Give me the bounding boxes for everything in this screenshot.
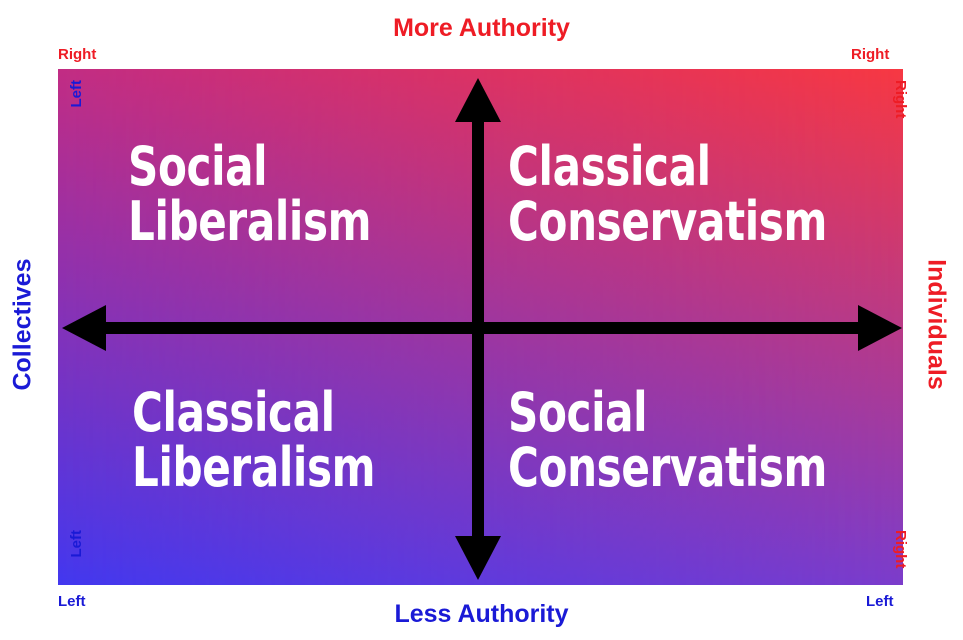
corner-label-top-left-top: Right: [58, 46, 96, 63]
political-compass-diagram: Social Liberalism Classical Conservatism…: [0, 0, 963, 640]
axis-title-left: Collectives: [9, 240, 38, 410]
quadrant-label-bottom-left: Classical Liberalism: [132, 385, 375, 495]
corner-label-bottom-left-bottom: Left: [58, 593, 86, 610]
corner-label-top-right-side: Right: [892, 80, 909, 134]
quadrant-label-bottom-right: Social Conservatism: [508, 385, 827, 495]
corner-label-bottom-right-side: Right: [892, 530, 909, 584]
axis-title-bottom: Less Authority: [0, 600, 963, 629]
axis-title-right: Individuals: [922, 240, 951, 410]
axis-title-top: More Authority: [0, 14, 963, 43]
corner-label-bottom-right-bottom: Left: [866, 593, 894, 610]
corner-label-top-right-top: Right: [851, 46, 889, 63]
quadrant-label-top-right: Classical Conservatism: [508, 139, 827, 249]
corner-label-bottom-left-side: Left: [68, 530, 85, 584]
corner-label-top-left-side: Left: [68, 80, 85, 134]
quadrant-label-top-left: Social Liberalism: [128, 139, 371, 249]
